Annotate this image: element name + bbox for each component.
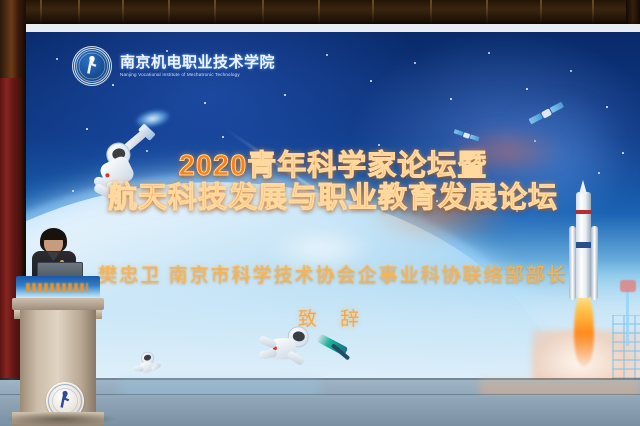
- podium: [12, 262, 104, 426]
- rocket-band: [576, 242, 591, 248]
- podium-body: [20, 310, 96, 426]
- rocket-nose-cone: [579, 180, 587, 194]
- university-name-en: Nanjing Vocational Institute of Mechatro…: [120, 73, 275, 78]
- speaker-subtitle: 樊忠卫 南京市科学技术协会企事业科协联络部部长: [26, 260, 640, 287]
- speaker-hair-front: [41, 230, 66, 240]
- podium-top-surface: [12, 298, 104, 310]
- university-name-cn: 南京机电职业技术学院: [120, 55, 275, 70]
- nebula-glow: [366, 182, 516, 242]
- ceiling-curtain: [0, 0, 640, 26]
- podium-banner-text: [26, 283, 88, 292]
- university-seal-icon: [72, 46, 112, 86]
- podium-shadow: [6, 412, 116, 426]
- speech-label: 致 辞: [26, 304, 640, 331]
- rocket-band: [576, 210, 591, 214]
- podium-banner: [16, 276, 100, 300]
- screen-header-logo: 南京机电职业技术学院 Nanjing Vocational Institute …: [72, 46, 275, 86]
- screenshot-root: 南京机电职业技术学院 Nanjing Vocational Institute …: [0, 0, 640, 426]
- projection-screen: 南京机电职业技术学院 Nanjing Vocational Institute …: [26, 32, 640, 380]
